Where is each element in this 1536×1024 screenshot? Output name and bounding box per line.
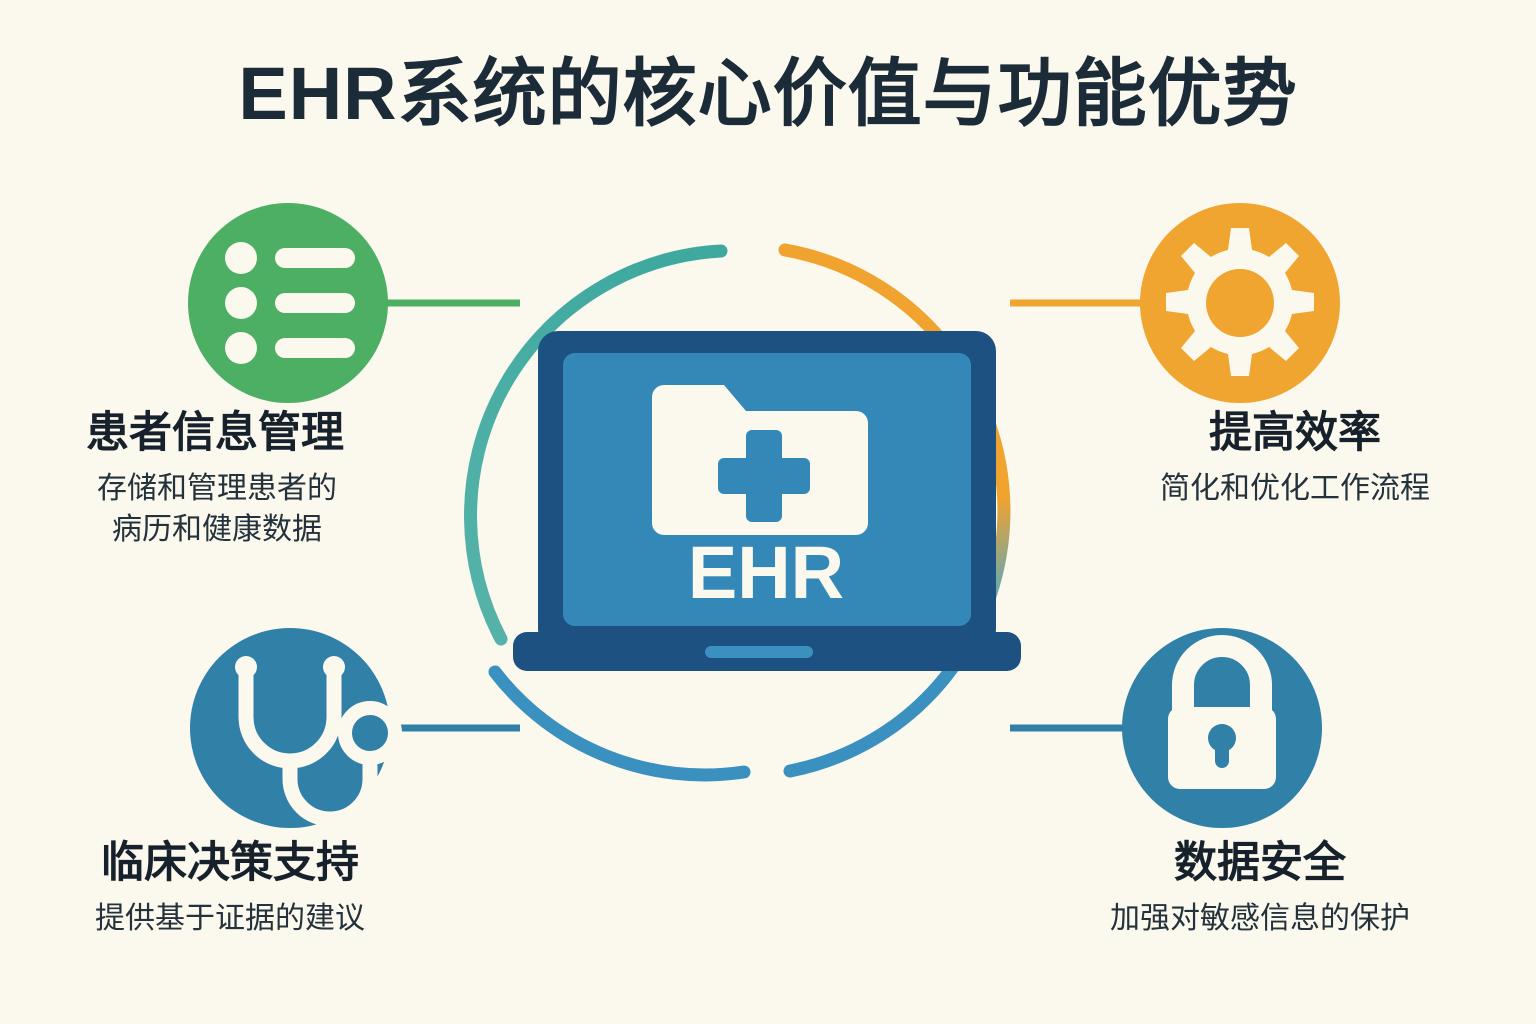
list-icon (225, 242, 355, 364)
label-patient-information-management: 患者信息管理 存储和管理患者的 病历和健康数据 (15, 408, 415, 550)
node-title-patient-information-management: 患者信息管理 (15, 408, 415, 458)
subtitle-line: 加强对敏感信息的保护 (1040, 898, 1480, 939)
subtitle-line: 病历和健康数据 (57, 509, 377, 550)
node-improve-efficiency[interactable] (1140, 203, 1340, 403)
laptop-trackpad-notch (705, 646, 813, 658)
subtitle-line: 简化和优化工作流程 (1085, 468, 1505, 509)
laptop-graphic: EHR (513, 331, 1021, 671)
node-data-security[interactable] (1122, 628, 1322, 828)
node-patient-information-management[interactable] (188, 203, 388, 403)
label-improve-efficiency: 提高效率 简化和优化工作流程 (1085, 408, 1505, 509)
node-subtitle-improve-efficiency: 简化和优化工作流程 (1085, 468, 1505, 509)
node-title-data-security: 数据安全 (1040, 838, 1480, 888)
screen-label: EHR (688, 531, 844, 614)
node-subtitle-patient-information-management: 存储和管理患者的 病历和健康数据 (57, 468, 377, 550)
ring-arc-bottom-left (495, 672, 744, 775)
gear-icon (1166, 228, 1314, 376)
node-clinical-decision-support[interactable] (190, 628, 395, 828)
subtitle-line: 提供基于证据的建议 (20, 898, 440, 939)
node-title-improve-efficiency: 提高效率 (1085, 408, 1505, 458)
label-clinical-decision-support: 临床决策支持 提供基于证据的建议 (20, 838, 440, 939)
label-data-security: 数据安全 加强对敏感信息的保护 (1040, 838, 1480, 939)
node-subtitle-clinical-decision-support: 提供基于证据的建议 (20, 898, 440, 939)
node-title-clinical-decision-support: 临床决策支持 (20, 838, 440, 888)
node-subtitle-data-security: 加强对敏感信息的保护 (1040, 898, 1480, 939)
infographic-canvas: EHR系统的核心价值与功能优势 (0, 0, 1536, 1024)
subtitle-line: 存储和管理患者的 (57, 468, 377, 509)
